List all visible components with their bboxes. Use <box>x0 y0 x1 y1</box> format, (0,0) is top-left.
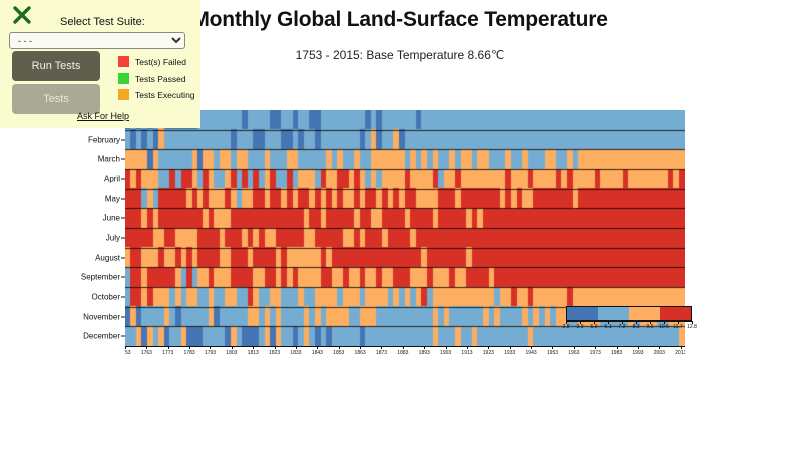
x-axis-tick <box>381 346 382 349</box>
y-axis-label-december: December <box>83 332 120 341</box>
legend-axis: 2.83.95.06.17.28.39.510.611.712.8 <box>566 321 692 333</box>
y-axis: JanuaryFebruaryMarchAprilMayJuneJulyAugu… <box>0 110 125 355</box>
x-axis-label: 2003 <box>654 350 665 356</box>
y-axis-label-may: May <box>105 194 120 203</box>
x-axis-tick <box>638 346 639 349</box>
x-axis-label: 1853 <box>333 350 344 356</box>
x-axis-label: 1763 <box>141 350 152 356</box>
status-legend-passed: Tests Passed <box>118 73 186 84</box>
x-axis-tick <box>210 346 211 349</box>
x-axis-tick <box>125 346 126 349</box>
x-axis-tick <box>552 346 553 349</box>
x-axis-label: 1773 <box>162 350 173 356</box>
y-axis-label-september: September <box>81 273 120 282</box>
x-axis-tick <box>296 346 297 349</box>
legend-tick-label: 7.2 <box>619 324 626 330</box>
x-axis-tick <box>446 346 447 349</box>
x-axis-label: 1963 <box>568 350 579 356</box>
status-label-failed: Test(s) Failed <box>135 57 186 67</box>
x-axis-tick <box>146 346 147 349</box>
x-axis-tick <box>189 346 190 349</box>
y-axis-label-april: April <box>104 174 120 183</box>
x-axis-tick <box>681 346 682 349</box>
x-axis-label: 1953 <box>547 350 558 356</box>
legend-tick-label: 8.3 <box>633 324 640 330</box>
legend-tick-label: 12.8 <box>687 324 697 330</box>
x-axis-label: 2013 <box>675 350 685 356</box>
x-axis-label: 1873 <box>376 350 387 356</box>
legend-tick-label: 2.8 <box>563 324 570 330</box>
x-axis-label: 1883 <box>397 350 408 356</box>
legend-swatch <box>598 307 629 320</box>
legend-tick-label: 9.5 <box>647 324 654 330</box>
tests-button[interactable]: Tests <box>12 84 100 114</box>
status-swatch-executing <box>118 89 129 100</box>
x-axis-label: 1943 <box>526 350 537 356</box>
x-axis-label: 1933 <box>504 350 515 356</box>
x-axis-tick <box>360 346 361 349</box>
y-axis-label-november: November <box>83 312 120 321</box>
x-axis-tick <box>339 346 340 349</box>
status-label-executing: Tests Executing <box>135 90 195 100</box>
status-label-passed: Tests Passed <box>135 74 186 84</box>
run-tests-button[interactable]: Run Tests <box>12 51 100 81</box>
x-axis-label: 1823 <box>269 350 280 356</box>
y-axis-label-july: July <box>106 233 120 242</box>
close-icon[interactable] <box>12 5 32 25</box>
x-axis-tick <box>253 346 254 349</box>
legend-swatches <box>566 306 692 321</box>
x-axis-tick <box>488 346 489 349</box>
status-swatch-failed <box>118 56 129 67</box>
legend-swatch <box>660 307 691 320</box>
color-legend: 2.83.95.06.17.28.39.510.611.712.8 <box>566 306 692 333</box>
x-axis-label: 1833 <box>290 350 301 356</box>
status-swatch-passed <box>118 73 129 84</box>
legend-tick-label: 6.1 <box>605 324 612 330</box>
panel-heading: Select Test Suite: <box>60 16 145 28</box>
y-axis-label-august: August <box>95 253 120 262</box>
legend-axis-line <box>566 321 692 322</box>
y-axis-label-february: February <box>88 135 120 144</box>
x-axis-label: 1863 <box>355 350 366 356</box>
x-axis-tick <box>424 346 425 349</box>
x-axis-label: 1803 <box>226 350 237 356</box>
legend-tick-label: 3.9 <box>577 324 584 330</box>
test-suite-select[interactable]: - - - <box>9 32 185 49</box>
x-axis-tick <box>595 346 596 349</box>
x-axis-label: 1913 <box>461 350 472 356</box>
x-axis-tick <box>574 346 575 349</box>
x-axis-label: 1843 <box>312 350 323 356</box>
x-axis: 1753176317731783179318031813182318331843… <box>125 346 685 362</box>
x-axis-tick <box>617 346 618 349</box>
legend-tick-label: 11.7 <box>673 324 682 330</box>
x-axis-label: 1993 <box>632 350 643 356</box>
x-axis-label: 1983 <box>611 350 622 356</box>
legend-tick-label: 5.0 <box>591 324 598 330</box>
x-axis-tick <box>510 346 511 349</box>
test-suite-panel: Select Test Suite: - - - Run Tests Tests… <box>0 0 200 128</box>
x-axis-tick <box>403 346 404 349</box>
x-axis-tick <box>531 346 532 349</box>
legend-tick-label: 10.6 <box>659 324 669 330</box>
status-legend-failed: Test(s) Failed <box>118 56 186 67</box>
x-axis-label: 1893 <box>419 350 430 356</box>
x-axis-tick <box>232 346 233 349</box>
x-axis-label: 1923 <box>483 350 494 356</box>
x-axis-line <box>125 346 685 347</box>
x-axis-tick <box>659 346 660 349</box>
x-axis-label: 1903 <box>440 350 451 356</box>
x-axis-label: 1793 <box>205 350 216 356</box>
x-axis-tick <box>168 346 169 349</box>
y-axis-label-october: October <box>92 292 120 301</box>
x-axis-label: 1783 <box>184 350 195 356</box>
x-axis-tick <box>467 346 468 349</box>
legend-swatch <box>629 307 660 320</box>
status-legend-executing: Tests Executing <box>118 89 195 100</box>
y-axis-label-march: March <box>98 155 120 164</box>
x-axis-label: 1813 <box>248 350 259 356</box>
x-axis-label: 1753 <box>125 350 131 356</box>
ask-for-help-link[interactable]: Ask For Help <box>77 111 129 121</box>
y-axis-label-june: June <box>103 214 120 223</box>
x-axis-tick <box>317 346 318 349</box>
x-axis-label: 1973 <box>590 350 601 356</box>
legend-swatch <box>567 307 598 320</box>
x-axis-tick <box>275 346 276 349</box>
